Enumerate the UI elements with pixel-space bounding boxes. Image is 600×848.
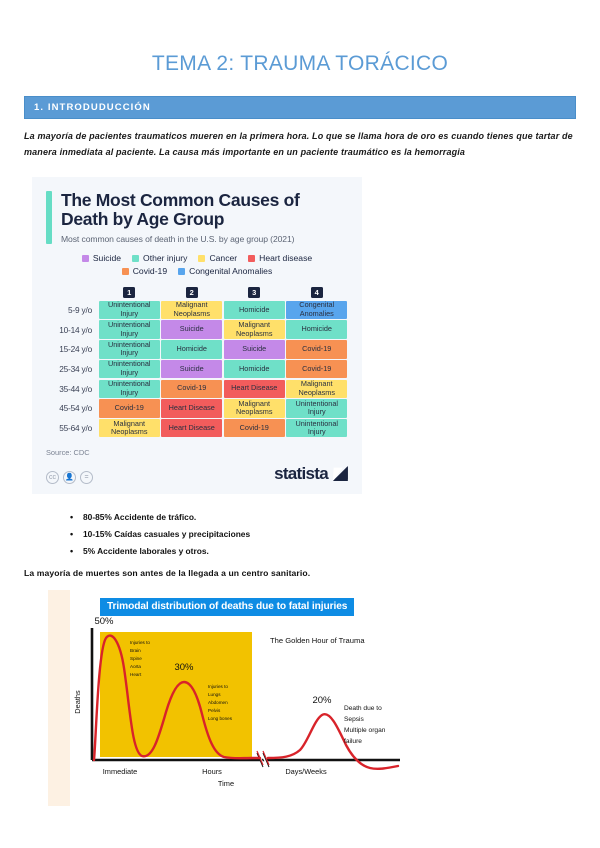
table-row: 45-54 y/oCovid-19Heart DiseaseMalignant …: [46, 399, 348, 419]
legend-swatch-icon: [132, 255, 139, 262]
table-cell: Malignant Neoplasms: [224, 399, 285, 418]
golden-hour-label: The Golden Hour of Trauma: [270, 636, 365, 645]
infographic-header: The Most Common Causes of Death by Age G…: [46, 191, 348, 245]
intro-paragraph: La mayoría de pacientes traumaticos muer…: [24, 129, 576, 161]
svg-text:Brain: Brain: [130, 648, 141, 653]
legend-swatch-icon: [198, 255, 205, 262]
table-cell: Malignant Neoplasms: [99, 419, 160, 438]
row-label: 25-34 y/o: [46, 359, 98, 379]
table-cell: Unintentional Injury: [286, 419, 347, 438]
rank-badge: 1: [123, 287, 135, 298]
table-cell: Unintentional Injury: [286, 399, 347, 418]
section-heading: 1. INTRODUDUCCIÓN: [24, 96, 576, 119]
legend-swatch-icon: [178, 268, 185, 275]
row-label: 55-64 y/o: [46, 418, 98, 438]
table-row: 10-14 y/oUnintentional InjurySuicideMali…: [46, 320, 348, 340]
svg-text:Aorta: Aorta: [130, 664, 141, 669]
table-cell: Covid-19: [161, 380, 222, 399]
chart-svg: 50% 30% 20% Injuries to Brain Spine Aort…: [48, 590, 408, 806]
golden-hour-region: [100, 632, 252, 757]
table-cell: Unintentional Injury: [99, 320, 160, 339]
trimodal-chart: Trimodal distribution of deaths due to f…: [48, 590, 408, 806]
table-cell: Homicide: [161, 340, 222, 359]
x-axis-label: Time: [218, 779, 234, 788]
x-tick-days-weeks: Days/Weeks: [285, 767, 327, 776]
table-cell: Covid-19: [99, 399, 160, 418]
document-page: TEMA 2: TRAUMA TORÁCICO 1. INTRODUDUCCIÓ…: [0, 52, 600, 848]
legend-item: Other injury: [132, 252, 187, 265]
svg-text:Multiple organ: Multiple organ: [344, 727, 386, 734]
by-icon: 👤: [63, 471, 76, 484]
legend-swatch-icon: [122, 268, 129, 275]
bullet-list: 80-85% Accidente de tráfico.10-15% Caída…: [70, 509, 600, 559]
legend-label: Suicide: [93, 252, 121, 265]
legend-label: Cancer: [209, 252, 237, 265]
y-axis-label: Deaths: [73, 690, 82, 714]
list-item: 80-85% Accidente de tráfico.: [70, 509, 600, 526]
causes-table: 5-9 y/oUnintentional InjuryMalignant Neo…: [46, 300, 348, 438]
legend-label: Covid-19: [133, 265, 167, 278]
infographic-footer: Source: CDC cc 👤 = statista: [46, 448, 348, 484]
page-title: TEMA 2: TRAUMA TORÁCICO: [0, 52, 600, 76]
statista-logo: statista: [274, 464, 348, 484]
table-cell: Heart Disease: [161, 399, 222, 418]
creative-commons-icons: cc 👤 =: [46, 471, 93, 484]
table-row: 55-64 y/oMalignant NeoplasmsHeart Diseas…: [46, 418, 348, 438]
svg-text:Spine: Spine: [130, 656, 142, 661]
legend-label: Heart disease: [259, 252, 312, 265]
svg-text:Injuries to: Injuries to: [130, 640, 150, 645]
legend-label: Other injury: [143, 252, 187, 265]
table-cell: Unintentional Injury: [99, 380, 160, 399]
table-cell: Congenital Anomalies: [286, 301, 347, 320]
table-cell: Covid-19: [286, 360, 347, 379]
annotation-peak-3: Death due to Sepsis Multiple organ failu…: [344, 705, 386, 745]
table-cell: Homicide: [224, 301, 285, 320]
rank-header-row: 1 2 3 4: [46, 287, 348, 298]
svg-text:Injuries to: Injuries to: [208, 684, 228, 689]
list-item: 5% Accidente laborales y otros.: [70, 543, 600, 560]
table-cell: Malignant Neoplasms: [286, 380, 347, 399]
svg-text:Lungs: Lungs: [208, 692, 221, 697]
table-row: 25-34 y/oUnintentional InjurySuicideHomi…: [46, 359, 348, 379]
legend-item: Heart disease: [248, 252, 312, 265]
table-cell: Suicide: [224, 340, 285, 359]
table-cell: Homicide: [224, 360, 285, 379]
table-cell: Covid-19: [286, 340, 347, 359]
legend-label: Congenital Anomalies: [189, 265, 272, 278]
svg-text:Death due to: Death due to: [344, 705, 382, 712]
peak-label-3: 20%: [312, 695, 332, 706]
cc-icon: cc: [46, 471, 59, 484]
row-label: 45-54 y/o: [46, 399, 98, 419]
table-row: 35-44 y/oUnintentional InjuryCovid-19Hea…: [46, 379, 348, 399]
infographic-subtitle: Most common causes of death in the U.S. …: [61, 234, 348, 244]
table-row: 15-24 y/oUnintentional InjuryHomicideSui…: [46, 340, 348, 360]
x-tick-hours: Hours: [202, 767, 222, 776]
rank-badge: 3: [248, 287, 260, 298]
table-cell: Unintentional Injury: [99, 360, 160, 379]
statista-infographic: The Most Common Causes of Death by Age G…: [32, 177, 362, 494]
svg-text:Pelvis: Pelvis: [208, 708, 221, 713]
svg-text:Abdomen: Abdomen: [208, 700, 228, 705]
peak-label-1: 50%: [94, 616, 114, 627]
table-cell: Malignant Neoplasms: [161, 301, 222, 320]
row-label: 35-44 y/o: [46, 379, 98, 399]
statista-wordmark: statista: [274, 464, 328, 484]
chart-title: Trimodal distribution of deaths due to f…: [100, 598, 354, 616]
table-row: 5-9 y/oUnintentional InjuryMalignant Neo…: [46, 300, 348, 320]
source-label: Source: CDC: [46, 448, 348, 457]
table-cell: Suicide: [161, 320, 222, 339]
x-tick-immediate: Immediate: [103, 767, 138, 776]
legend-swatch-icon: [248, 255, 255, 262]
table-cell: Heart Disease: [224, 380, 285, 399]
statista-mark-icon: [331, 466, 348, 481]
row-label: 15-24 y/o: [46, 340, 98, 360]
row-label: 10-14 y/o: [46, 320, 98, 340]
table-cell: Covid-19: [224, 419, 285, 438]
table-cell: Unintentional Injury: [99, 340, 160, 359]
row-label: 5-9 y/o: [46, 300, 98, 320]
nd-icon: =: [80, 471, 93, 484]
table-cell: Suicide: [161, 360, 222, 379]
svg-text:Long bones: Long bones: [208, 716, 233, 721]
legend-item: Cancer: [198, 252, 237, 265]
svg-text:Sepsis: Sepsis: [344, 716, 364, 723]
accent-bar-icon: [46, 191, 52, 245]
legend-item: Congenital Anomalies: [178, 265, 272, 278]
legend-swatch-icon: [82, 255, 89, 262]
peak-label-2: 30%: [174, 662, 194, 673]
list-item: 10-15% Caídas casuales y precipitaciones: [70, 526, 600, 543]
table-cell: Unintentional Injury: [99, 301, 160, 320]
legend-item: Suicide: [82, 252, 121, 265]
infographic-legend: SuicideOther injuryCancerHeart disease C…: [46, 252, 348, 278]
table-cell: Heart Disease: [161, 419, 222, 438]
legend-item: Covid-19: [122, 265, 167, 278]
svg-text:failure: failure: [344, 738, 362, 745]
rank-badge: 2: [186, 287, 198, 298]
table-cell: Malignant Neoplasms: [224, 320, 285, 339]
svg-text:Heart: Heart: [130, 672, 142, 677]
rank-badge: 4: [311, 287, 323, 298]
infographic-title: The Most Common Causes of Death by Age G…: [61, 191, 348, 231]
after-bullets-text: La mayoría de muertes son antes de la ll…: [24, 568, 576, 578]
table-cell: Homicide: [286, 320, 347, 339]
